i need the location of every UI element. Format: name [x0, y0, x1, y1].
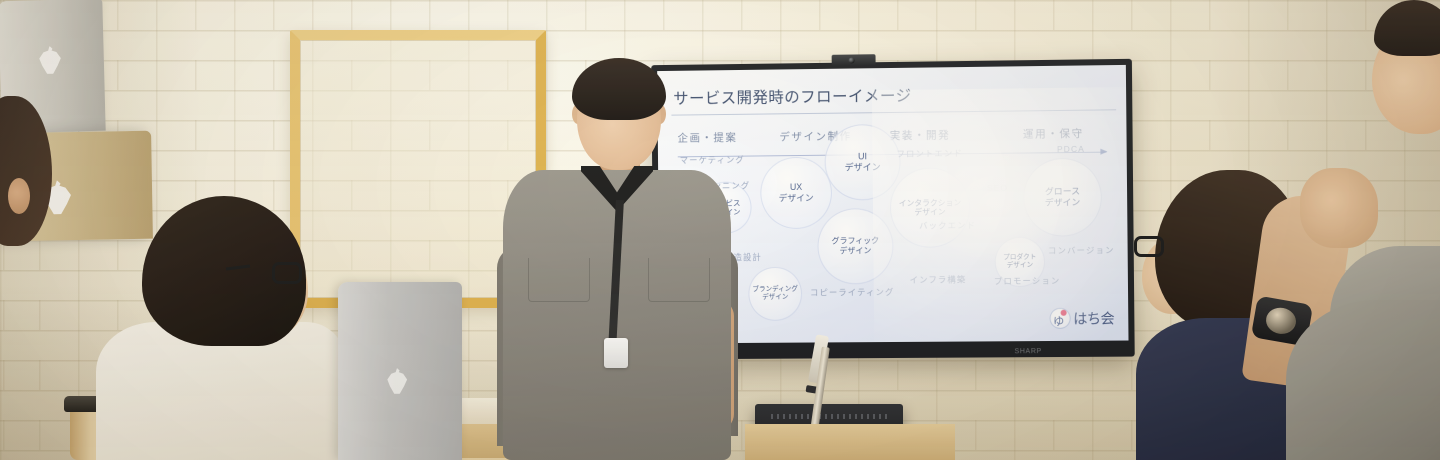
hachikai-logo-mark-icon: ゆ: [1049, 308, 1070, 329]
camera-lens-icon: [849, 57, 855, 63]
skill-tag: フロントエンド: [896, 147, 963, 160]
skill-tag: バックエンド: [919, 219, 976, 232]
glasses-lens: [272, 262, 302, 284]
skill-tag: マーケティング: [680, 154, 745, 167]
skill-tag: コンバージョン: [1048, 244, 1115, 257]
glasses-icon-left-attendee: [244, 262, 302, 286]
shirt-pocket-left: [528, 258, 590, 302]
skill-tag: コピーライティング: [810, 286, 895, 299]
apple-logo-icon: [386, 368, 408, 394]
attendee-right-1-hand: [1300, 168, 1378, 248]
skill-tag: PDCA: [1057, 144, 1085, 154]
webcam-icon: [832, 54, 876, 66]
glasses-lens: [1134, 236, 1164, 257]
meeting-room-photo: SHARP サービス開発時のフローイメージ 企画・提案 デザイン制作 実装・開発…: [0, 0, 1440, 460]
apple-logo-icon: [37, 46, 62, 75]
skill-tag: プロモーション: [994, 275, 1061, 288]
name-badge: [604, 338, 628, 368]
shirt-pocket-right: [648, 258, 710, 302]
laptop-left-attendee: [338, 282, 462, 460]
glasses-icon-right-attendee: [1134, 236, 1170, 260]
hachikai-logo: ゆ はち会: [1049, 307, 1114, 329]
hachikai-logo-glyph: ゆ: [1053, 313, 1064, 329]
watch-dial-icon: [1264, 305, 1298, 336]
vent-grille: [771, 414, 887, 419]
skill-tag: インフラ構築: [910, 273, 967, 285]
skill-tag: SEO: [987, 183, 1008, 193]
wooden-shelf-right: [745, 424, 955, 460]
tv-brand-label: SHARP: [1015, 348, 1042, 355]
hachikai-logo-text: はち会: [1073, 308, 1114, 328]
attendee-far-left-ear: [8, 178, 30, 214]
